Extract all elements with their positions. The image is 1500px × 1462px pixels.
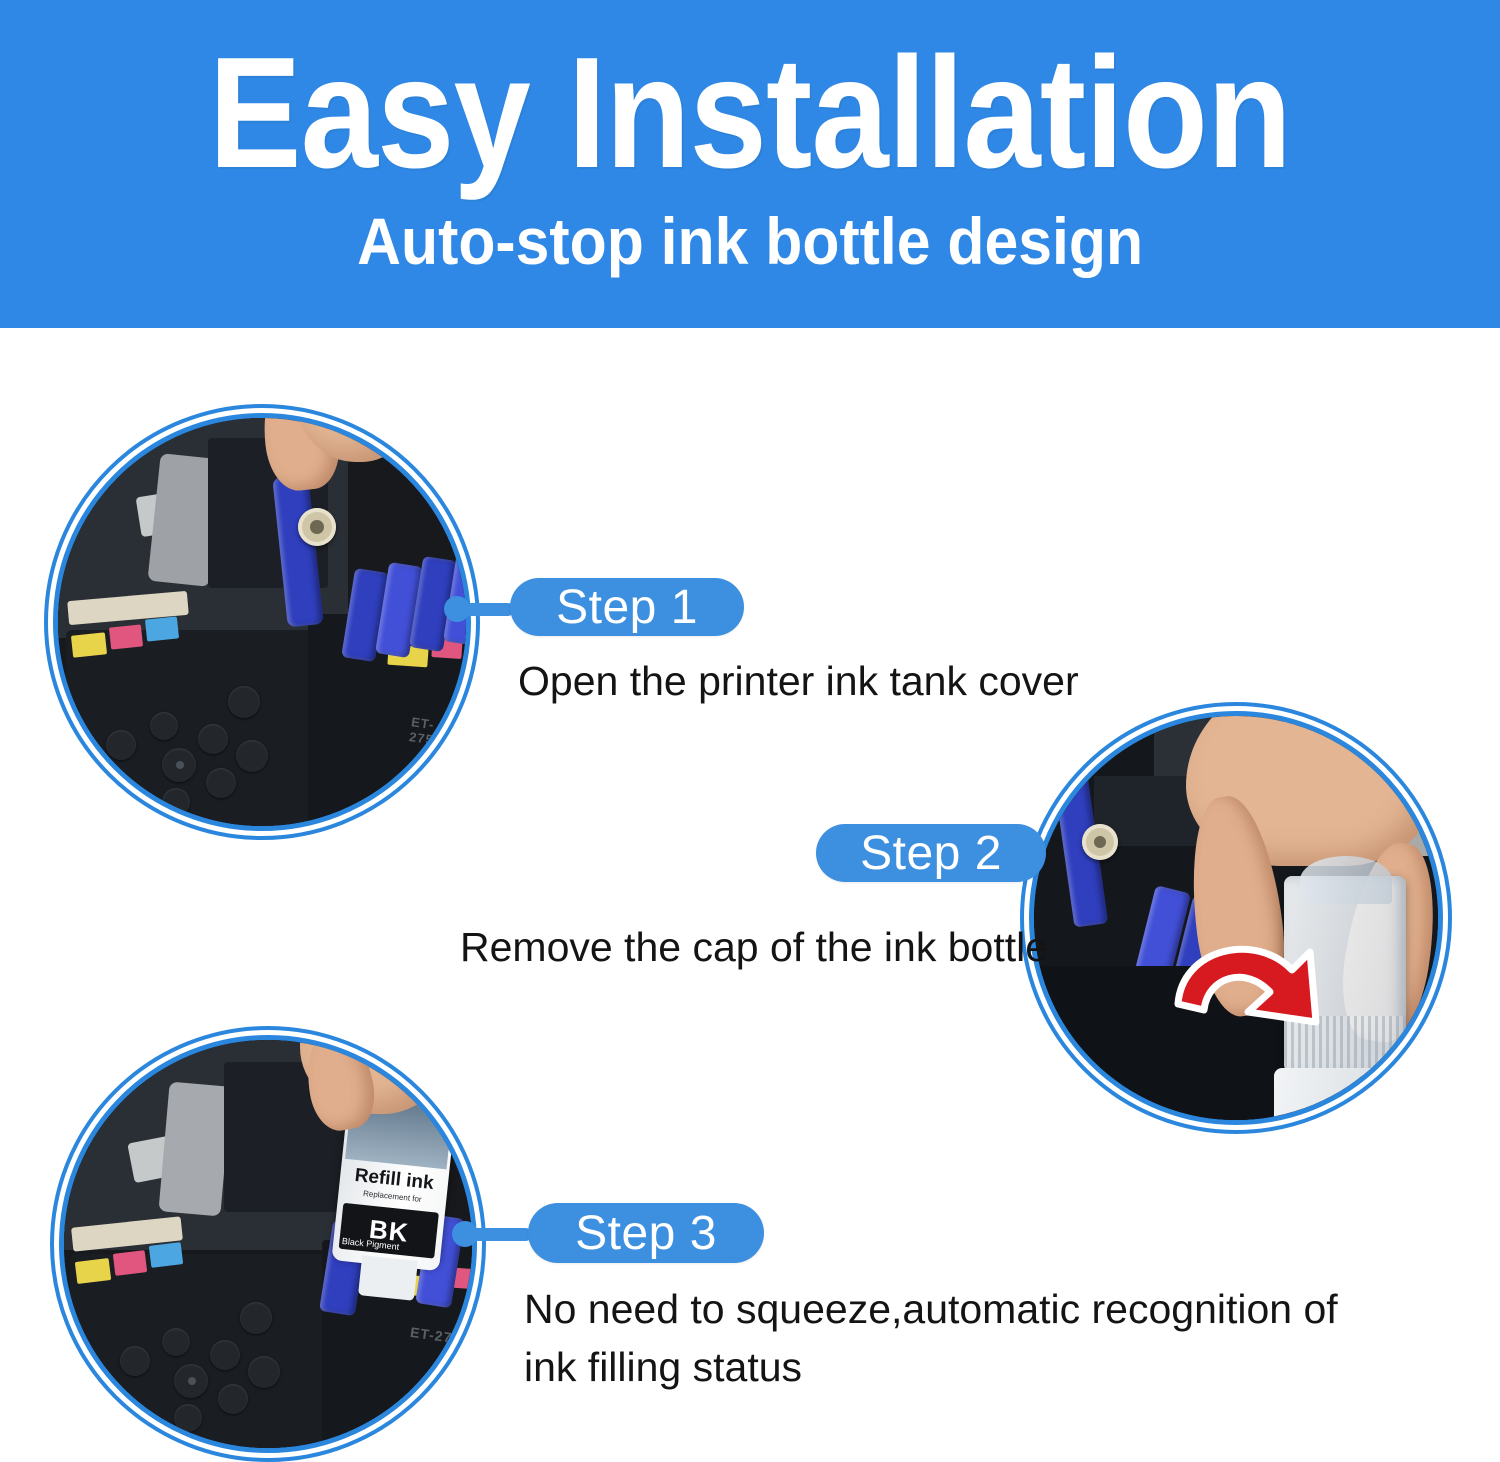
tank-label-magenta — [109, 624, 143, 649]
insert-refill-bottle-scene: BK Black Pigment Replacement for Refill … — [64, 1040, 472, 1448]
tank-label-yellow — [71, 632, 107, 657]
step-1-caption: Open the printer ink tank cover — [518, 652, 1338, 710]
fill-port-grommet — [298, 508, 336, 546]
tank-label-cyan — [145, 616, 179, 641]
step-1-photo: ET-2750 — [44, 404, 480, 840]
printer-open-cover-scene: ET-2750 — [58, 418, 466, 826]
fill-port-grommet — [1082, 824, 1118, 860]
ink-bottle-cap-top — [1300, 856, 1392, 904]
carriage-bracket — [158, 1082, 231, 1217]
step-3-caption: No need to squeeze,automatic recognition… — [524, 1280, 1384, 1396]
page-subtitle: Auto-stop ink bottle design — [357, 208, 1143, 274]
step-3-photo-ring: BK Black Pigment Replacement for Refill … — [59, 1035, 477, 1453]
tank-label-magenta — [113, 1250, 147, 1276]
step-3-badge[interactable]: Step 3 — [528, 1203, 764, 1263]
step-1-photo-ring: ET-2750 — [53, 413, 471, 831]
step-2-caption: Remove the cap of the ink bottle — [460, 918, 1220, 976]
step-1-badge[interactable]: Step 1 — [510, 578, 744, 636]
tank-label-cyan — [149, 1242, 183, 1268]
step-3-connector-knob — [452, 1221, 478, 1247]
page-title: Easy Installation — [209, 34, 1291, 192]
step-3-photo: BK Black Pigment Replacement for Refill … — [50, 1026, 486, 1462]
header-banner: Easy Installation Auto-stop ink bottle d… — [0, 0, 1500, 328]
tank-label-yellow — [75, 1258, 111, 1284]
step-2-badge[interactable]: Step 2 — [816, 824, 1046, 882]
bottle-neck — [358, 1255, 418, 1301]
step-1-connector-knob — [444, 596, 470, 622]
